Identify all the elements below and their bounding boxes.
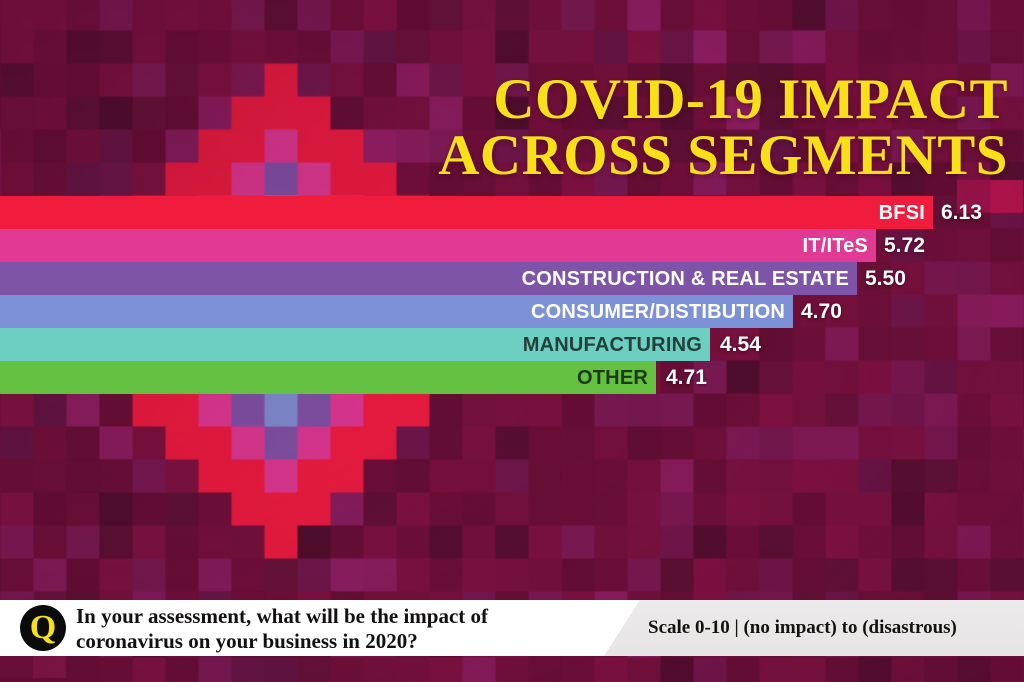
infographic-canvas: COVID-19 IMPACT ACROSS SEGMENTS BFSI6.13… — [0, 0, 1024, 682]
bar-row: CONSTRUCTION & REAL ESTATE5.50 — [0, 262, 1024, 295]
question-text: In your assessment, what will be the imp… — [76, 604, 596, 654]
question-line-2: coronavirus on your business in 2020? — [76, 629, 596, 654]
scale-note: Scale 0-10 | (no impact) to (disastrous) — [648, 600, 957, 656]
bar-value: 5.50 — [865, 262, 906, 295]
bar-5: MANUFACTURING — [0, 328, 710, 361]
bar-row: CONSUMER/DISTIBUTION4.70 — [0, 295, 1024, 328]
bar-label: CONSUMER/DISTIBUTION — [531, 302, 785, 322]
bar-row: MANUFACTURING4.54 — [0, 328, 1024, 361]
bar-value: 5.72 — [884, 229, 925, 262]
bar-label: CONSTRUCTION & REAL ESTATE — [522, 269, 849, 289]
page-title: COVID-19 IMPACT ACROSS SEGMENTS — [412, 72, 1008, 184]
bar-value: 6.13 — [941, 196, 982, 229]
bar-label: MANUFACTURING — [523, 335, 702, 355]
bar-label: BFSI — [879, 203, 925, 223]
bar-label: IT/ITeS — [803, 236, 868, 256]
bar-1: BFSI — [0, 196, 933, 229]
bar-chart: BFSI6.13IT/ITeS5.72CONSTRUCTION & REAL E… — [0, 196, 1024, 394]
title-line-2: ACROSS SEGMENTS — [412, 128, 1008, 184]
question-line-1: In your assessment, what will be the imp… — [76, 604, 596, 629]
bar-value: 4.70 — [801, 295, 842, 328]
bar-row: BFSI6.13 — [0, 196, 1024, 229]
bar-3: CONSTRUCTION & REAL ESTATE — [0, 262, 857, 295]
bar-value: 4.54 — [720, 328, 761, 361]
bar-2: IT/ITeS — [0, 229, 876, 262]
caption-area: Scale 0-10 | (no impact) to (disastrous)… — [0, 574, 1024, 682]
question-panel: Q In your assessment, what will be the i… — [0, 600, 640, 656]
question-badge-icon: Q — [20, 605, 66, 651]
bar-4: CONSUMER/DISTIBUTION — [0, 295, 793, 328]
bar-row: OTHER4.71 — [0, 361, 1024, 394]
bar-row: IT/ITeS5.72 — [0, 229, 1024, 262]
bar-6: OTHER — [0, 361, 656, 394]
title-line-1: COVID-19 IMPACT — [493, 68, 1008, 131]
bar-value: 4.71 — [666, 361, 707, 394]
bar-label: OTHER — [577, 368, 648, 388]
